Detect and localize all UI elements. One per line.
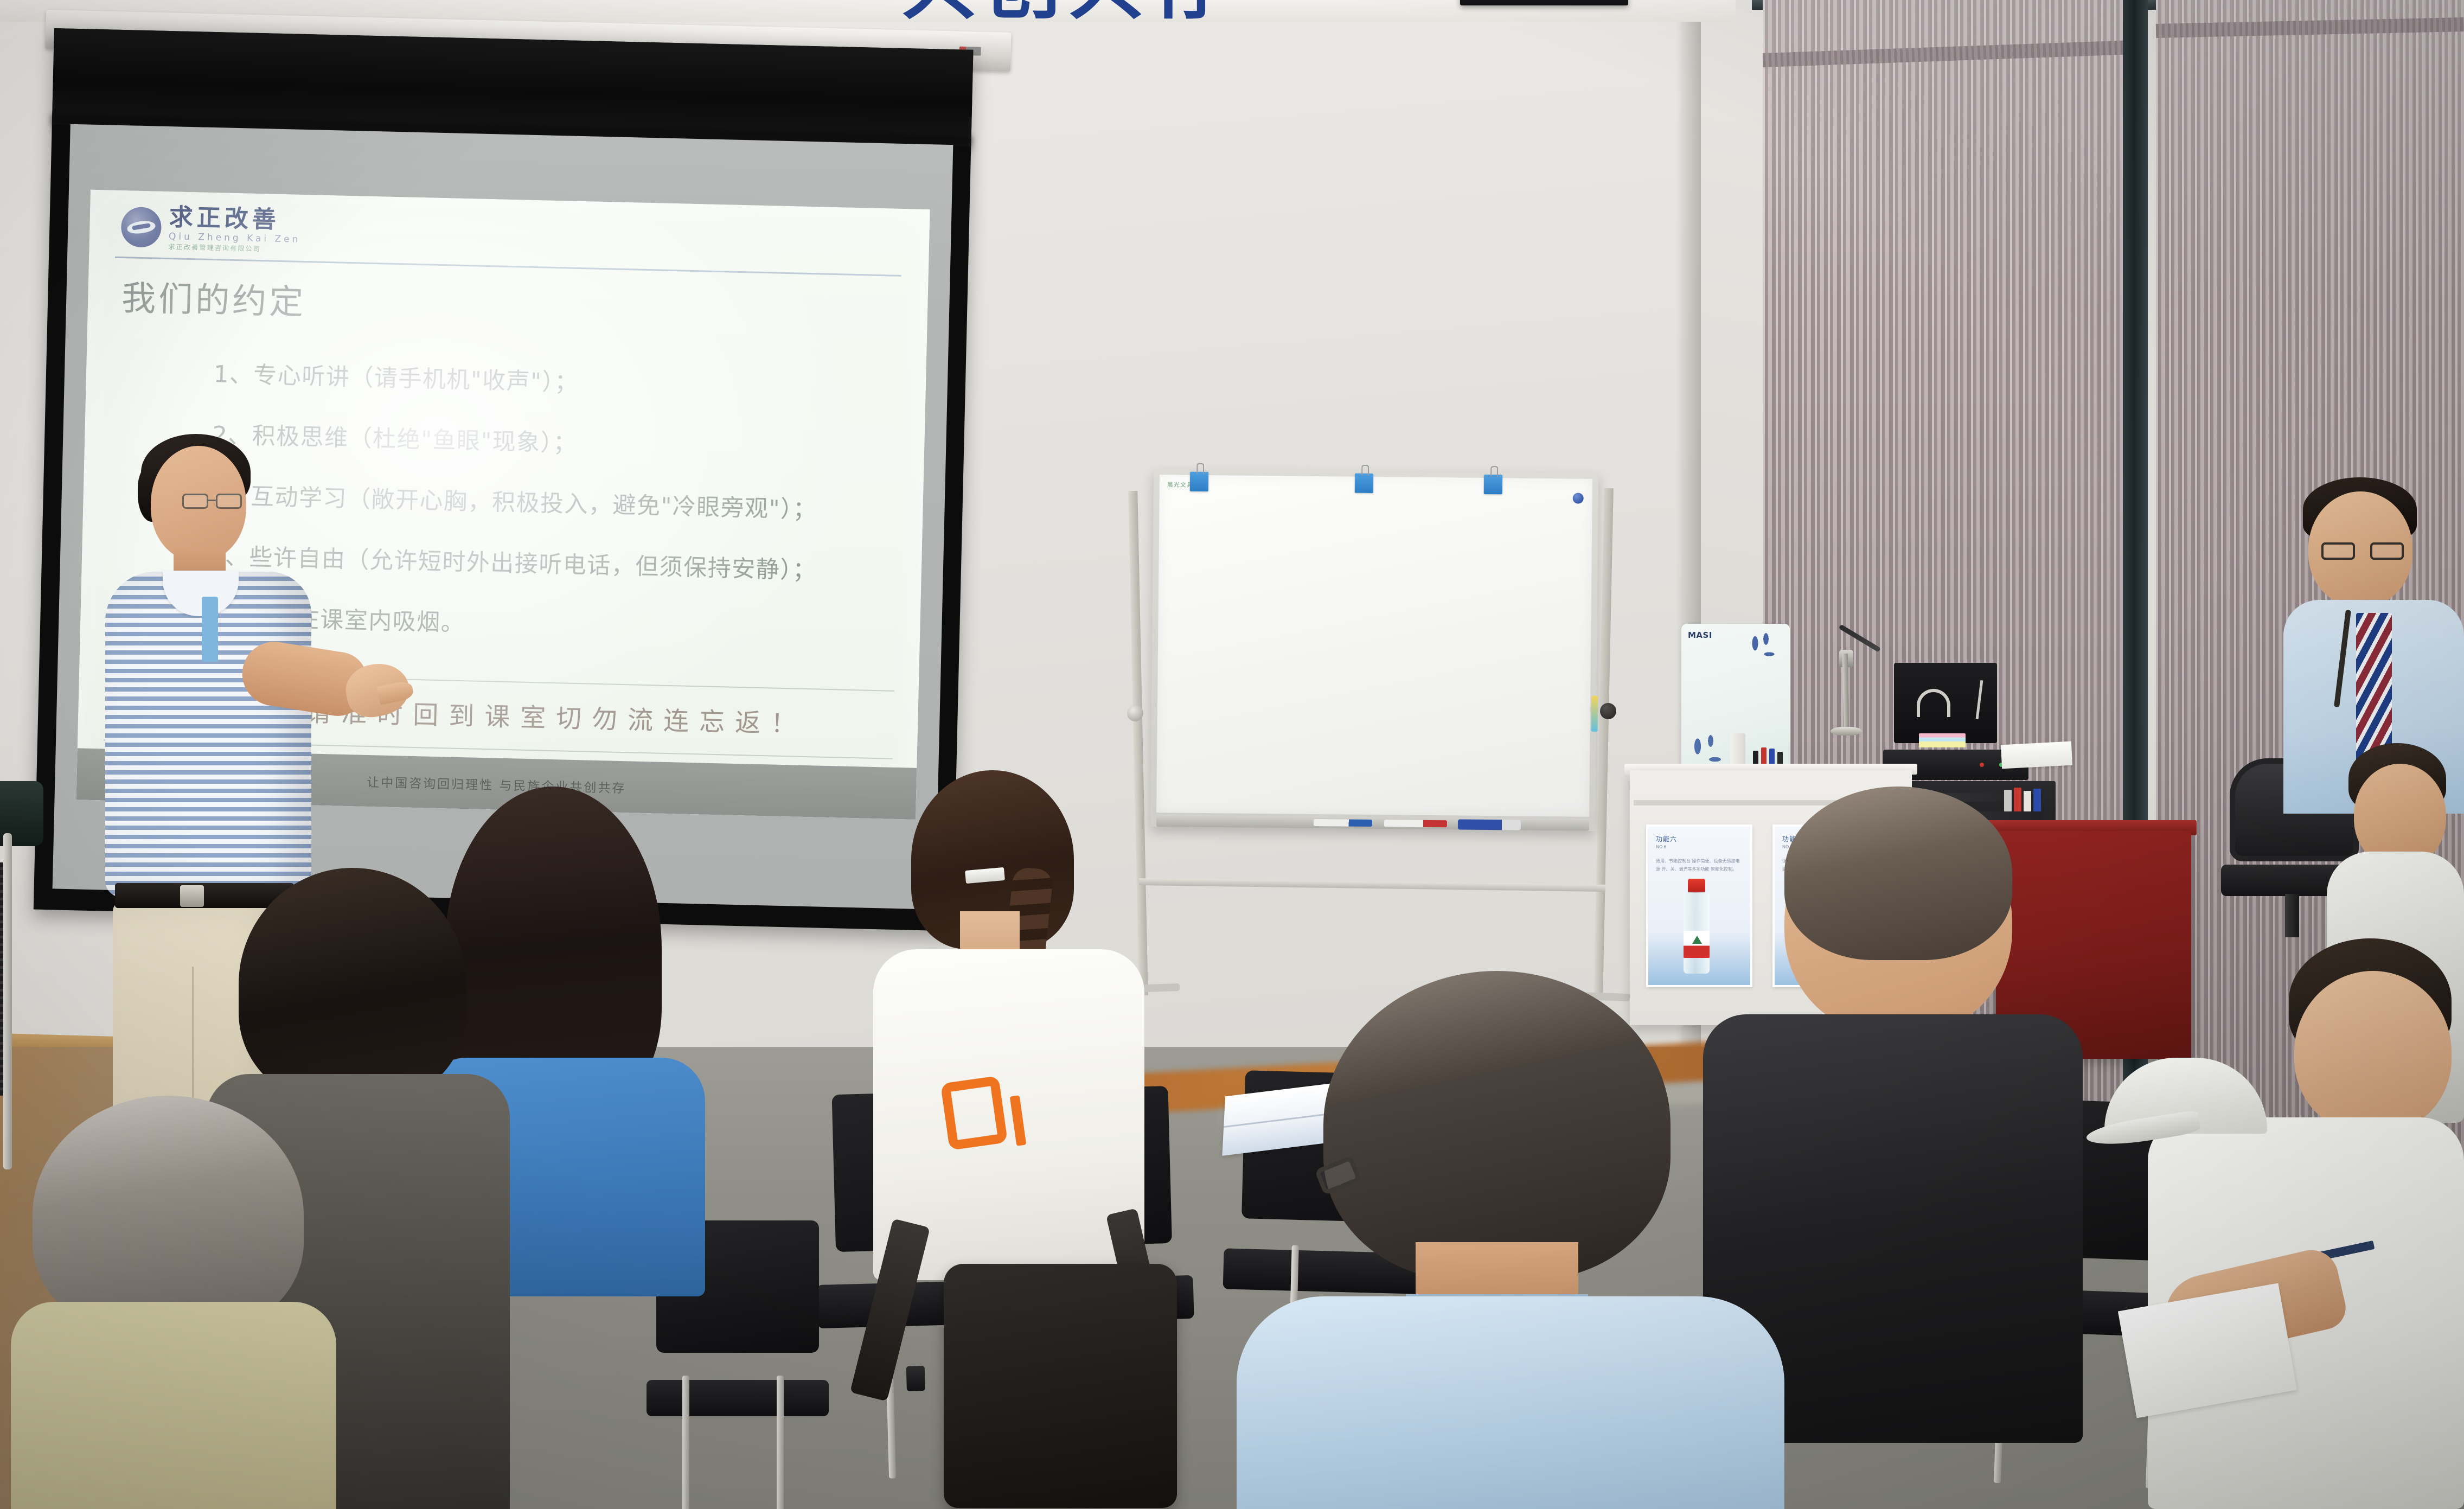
whiteboard-tilt-knob-left[interactable] [1127, 705, 1143, 721]
shoulder-bag[interactable] [944, 1264, 1177, 1508]
graphic-bar-icon [1010, 1095, 1027, 1146]
glasses-icon [2321, 542, 2404, 561]
whiteboard-tilt-knob-right[interactable] [1600, 703, 1616, 719]
tshirt-orange-graphic [945, 1079, 1037, 1155]
attendee-white-cap [2104, 1058, 2283, 1237]
sticky-notes-stack[interactable] [1919, 733, 1966, 747]
attendee-hair [1323, 971, 1671, 1280]
company-logo-icon [121, 207, 162, 248]
whiteboard-brand-label: 晨光文具 [1167, 480, 1193, 489]
graphic-ring-icon [940, 1076, 1008, 1150]
red-marker-icon[interactable] [1384, 820, 1447, 827]
attendee-braid [857, 770, 1182, 1280]
curtain-header [1763, 40, 2137, 67]
binder-clip-1-icon[interactable] [1190, 472, 1208, 491]
glasses-icon [182, 494, 248, 510]
attendee-light-top [11, 1302, 336, 1509]
microphone-base [1831, 727, 1862, 736]
blue-magnet-icon[interactable] [1573, 493, 1584, 503]
antenna-icon [1976, 680, 1983, 719]
power-led-icon [1980, 763, 1984, 767]
slide-logo-sub: 求正改善管理咨询有限公司 [168, 244, 300, 253]
presenter-belt-buckle [180, 885, 204, 907]
side-pen-icon[interactable] [1591, 696, 1598, 732]
chair-leg [682, 1376, 689, 1509]
binder-clip-3-icon[interactable] [1484, 475, 1502, 494]
attendee-light-blue-shirt [1237, 1296, 1784, 1509]
attendee-hair [33, 1096, 304, 1334]
chair-leg [777, 1376, 784, 1509]
chair-hinge [906, 1366, 925, 1391]
mounted-display [1460, 0, 1628, 5]
attendee-blue-shirt [1237, 971, 1784, 1509]
whiteboard-eraser-icon[interactable] [1458, 819, 1521, 830]
presenter-placket [202, 597, 218, 662]
papers-on-cabinet [2001, 741, 2072, 769]
office-chair-post [2285, 894, 2299, 937]
slide-logo-cn: 求正改善 [169, 206, 301, 233]
floral-motif-icon [1745, 632, 1784, 667]
blue-marker-icon[interactable] [1314, 819, 1372, 827]
attendee-head [2294, 971, 2452, 1134]
wall-banner: 共创共存 [900, 0, 1470, 34]
cable-hook-icon [1917, 689, 1950, 717]
slide-title: 我们的约定 [121, 271, 306, 324]
whiteboard-surface[interactable]: 晨光文具 [1156, 475, 1592, 817]
attendee-hair [1784, 787, 2012, 960]
slide-logo-en: Qiu Zheng Kai Zen [169, 232, 301, 245]
chair-seat [647, 1380, 829, 1416]
slide-item-1: 1、专心听讲（请手机机"收声"）； [213, 355, 913, 405]
curtain-header [2156, 17, 2464, 38]
slide-logo: 求正改善 Qiu Zheng Kai Zen 求正改善管理咨询有限公司 [120, 204, 301, 253]
monitor [1894, 663, 1997, 743]
classroom-photo-scene: 共创共存 求正改善 Qiu Zheng Kai Zen 求正改善管理咨询有限公司 [0, 0, 2464, 1509]
attendee-hair [239, 868, 466, 1101]
binder-clip-2-icon[interactable] [1355, 474, 1373, 493]
attendee-grey-hair [11, 1096, 336, 1509]
whiteboard[interactable]: 晨光文具 [1150, 469, 1598, 831]
glass-panel-brand: MASI [1688, 630, 1712, 640]
